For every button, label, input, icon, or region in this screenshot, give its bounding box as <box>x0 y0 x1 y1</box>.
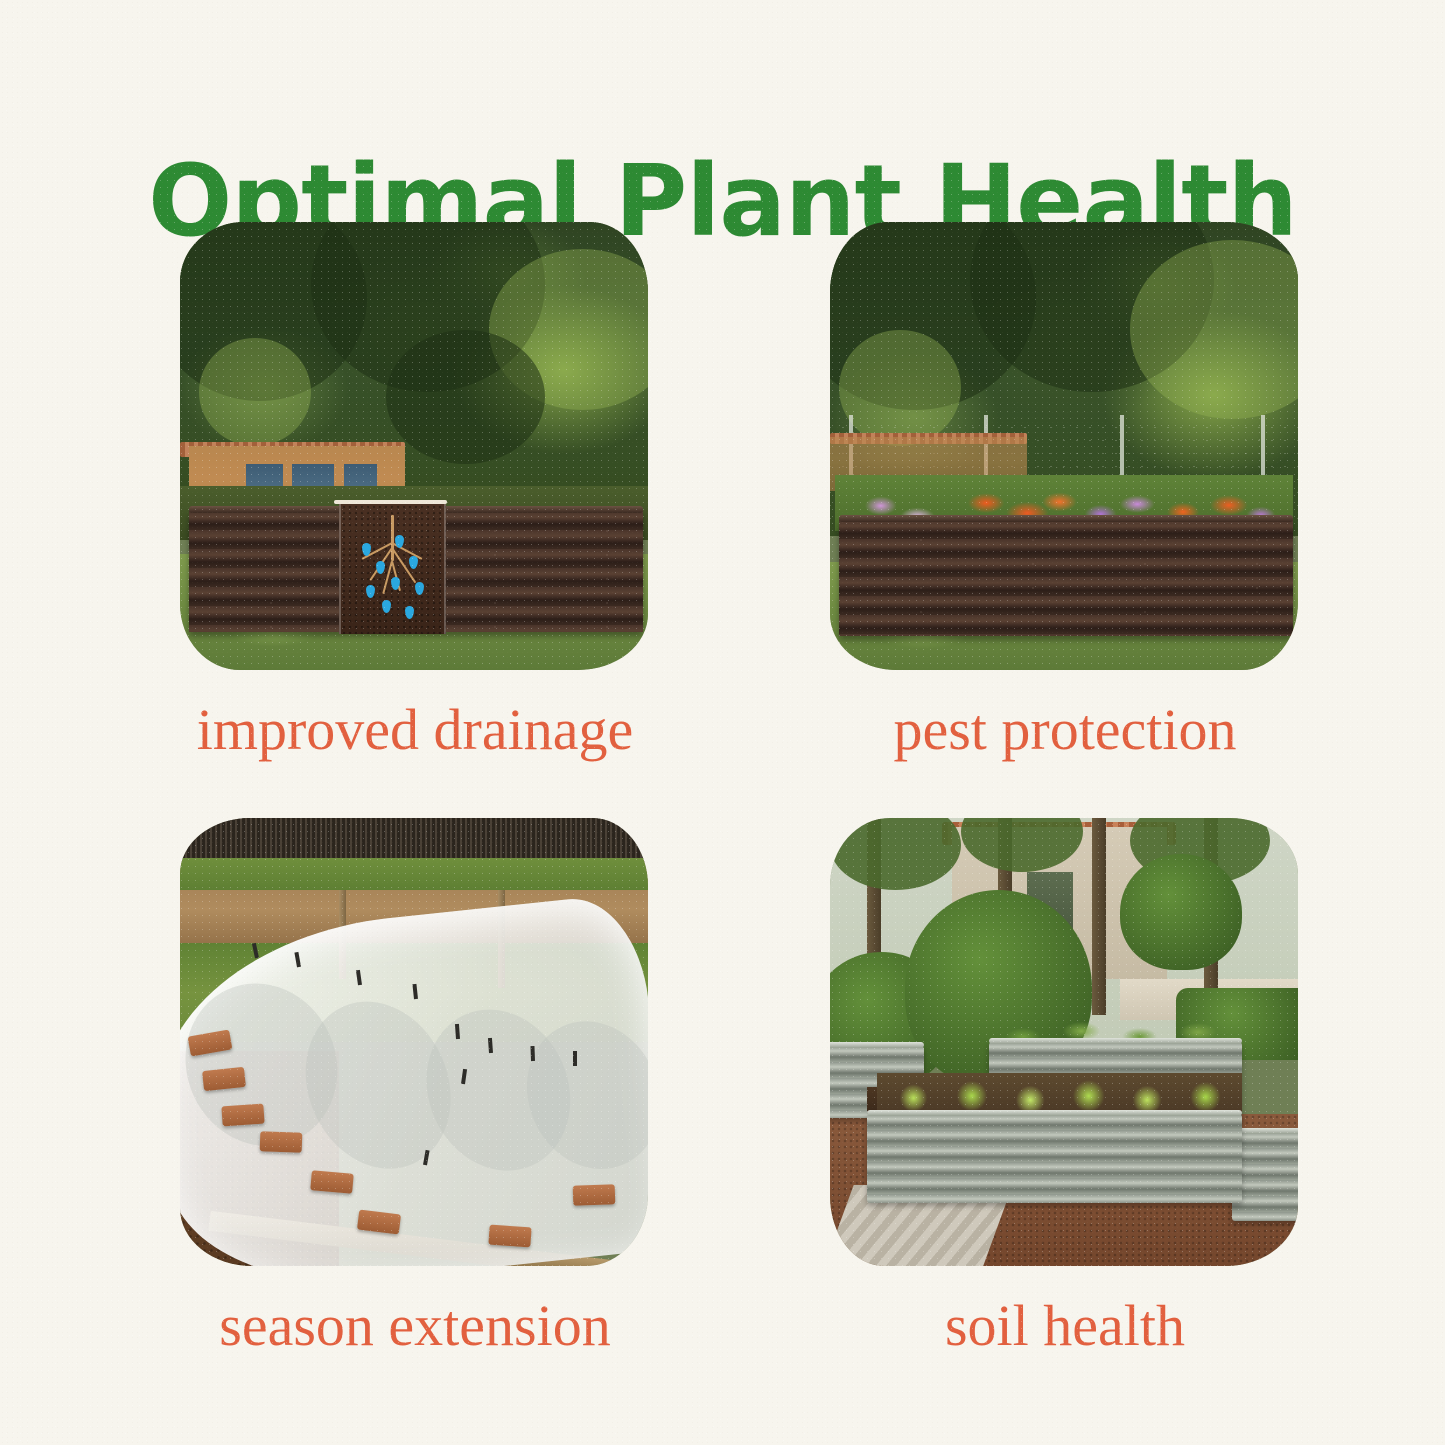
raised-bed-flowers-photo <box>830 222 1298 670</box>
bare-tree-line <box>180 818 648 863</box>
brick-weight <box>221 1103 264 1126</box>
galvanized-bed-right <box>1232 1132 1298 1222</box>
benefit-grid: improved drainage <box>120 222 1325 1402</box>
water-drop-icon <box>382 600 391 613</box>
water-drop-icon <box>391 577 400 590</box>
brick-weight <box>310 1170 354 1194</box>
water-drop-icon <box>409 556 418 569</box>
cutaway-top-edge <box>334 500 446 504</box>
grass-strip <box>180 858 648 889</box>
infographic-page: Optimal Plant Health <box>0 0 1445 1445</box>
bed-rivets <box>839 520 1293 636</box>
galvanized-bed-front <box>867 1114 1241 1204</box>
benefit-caption: season extension <box>180 1296 650 1357</box>
galvanized-beds-lettuce-photo <box>830 818 1298 1266</box>
benefit-caption: soil health <box>830 1296 1300 1357</box>
benefit-cell-soil-health: soil health <box>830 818 1300 1357</box>
shrub <box>1120 854 1242 970</box>
brick-weight <box>573 1185 616 1206</box>
tree-mass-icon <box>386 330 545 464</box>
bed-top-rim <box>989 1038 1242 1044</box>
brick-weight <box>488 1224 531 1247</box>
root-icon <box>391 515 394 562</box>
benefit-cell-season-extension: season extension <box>180 818 650 1357</box>
fabric-clip <box>530 1046 535 1061</box>
water-drop-icon <box>376 561 385 574</box>
bed-top-rim <box>830 1042 924 1048</box>
bed-top-rim <box>867 1110 1241 1116</box>
water-drop-icon <box>415 582 424 595</box>
brick-weight <box>202 1067 246 1091</box>
benefit-cell-pest-protection: pest protection <box>830 222 1300 761</box>
benefit-cell-improved-drainage: improved drainage <box>180 222 650 761</box>
palm-trunk <box>1092 818 1106 1015</box>
bed-top-rim <box>1232 1128 1298 1134</box>
fabric-clip <box>488 1037 493 1052</box>
raised-bed-drainage-photo <box>180 222 648 670</box>
water-drop-icon <box>405 606 414 619</box>
benefit-caption: pest protection <box>830 700 1300 761</box>
row-cover-tunnel-photo <box>180 818 648 1266</box>
tree-highlight-icon <box>199 338 311 446</box>
water-drop-icon <box>366 585 375 598</box>
soil-cutaway <box>339 504 446 634</box>
raised-bed-panel <box>839 520 1293 636</box>
benefit-caption: improved drainage <box>180 700 650 761</box>
brick-weight <box>259 1131 302 1152</box>
fabric-clip <box>573 1051 577 1066</box>
